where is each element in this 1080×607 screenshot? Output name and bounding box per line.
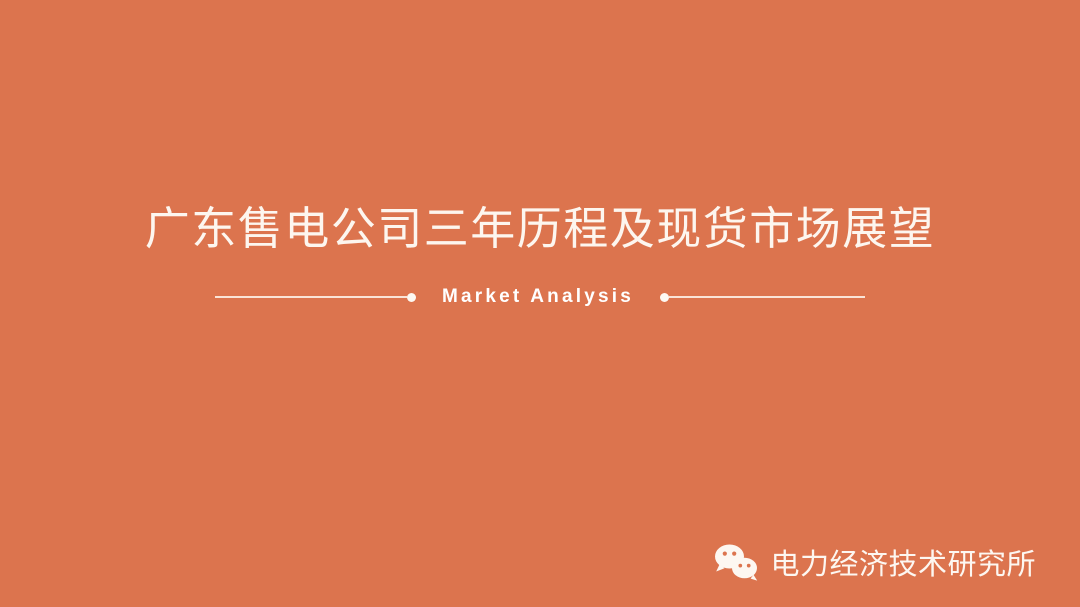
right-rule [669, 296, 865, 298]
left-rule [215, 296, 407, 298]
wechat-icon [713, 542, 759, 582]
left-dot-icon [407, 293, 416, 302]
subtitle: Market Analysis [416, 286, 660, 308]
subtitle-row: Market Analysis [0, 283, 1080, 311]
title-block: 广东售电公司三年历程及现货市场展望 [0, 196, 1080, 262]
wechat-credit: 电力经济技术研究所 [713, 541, 1036, 583]
wechat-account-name: 电力经济技术研究所 [770, 541, 1036, 583]
title-slide: 广东售电公司三年历程及现货市场展望 Market Analysis [0, 0, 1080, 607]
right-dot-icon [660, 293, 669, 302]
page-title: 广东售电公司三年历程及现货市场展望 [0, 196, 1080, 262]
